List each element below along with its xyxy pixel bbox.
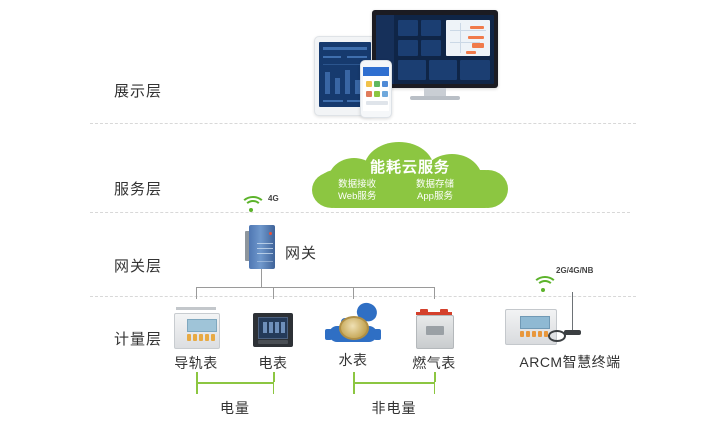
- bracket-stub-gas: [434, 372, 436, 382]
- layer-label-gateway: 网关层: [114, 255, 162, 276]
- cloud-feature-web-service: Web服务: [338, 191, 376, 203]
- cloud-title: 能耗云服务: [312, 156, 508, 177]
- cloud-service-shape: 能耗云服务 数据接收 Web服务 数据存储 App服务: [312, 142, 508, 210]
- cloud-feature-app-service: App服务: [416, 191, 454, 203]
- divider-display-service: [90, 123, 636, 124]
- bracket-label-non-electricity: 非电量: [353, 398, 435, 418]
- connector-bus: [196, 287, 434, 288]
- bracket-stub-din: [196, 372, 198, 382]
- electric-meter-icon: [253, 313, 293, 347]
- meter-label-din-rail: 导轨表: [166, 353, 226, 373]
- connector-gateway-drop: [261, 269, 262, 287]
- din-rail-meter-icon: [174, 313, 220, 349]
- meter-label-electric: 电表: [243, 353, 303, 373]
- meter-din-rail: 导轨表: [166, 305, 226, 355]
- bracket-electricity: [196, 382, 274, 394]
- divider-gateway-metering: [90, 296, 636, 297]
- terminal-network-label: 2G/4G/NB: [556, 266, 593, 275]
- meter-label-water: 水表: [323, 350, 383, 370]
- cloud-text-group: 能耗云服务 数据接收 Web服务 数据存储 App服务: [312, 142, 508, 210]
- gateway-network-label: 4G: [268, 194, 279, 203]
- gateway-device-icon: [245, 225, 277, 269]
- dashboard-map: [446, 20, 490, 56]
- meter-water: 水表: [323, 302, 383, 352]
- monitor-base: [410, 96, 460, 100]
- connector-drop-din: [196, 287, 197, 299]
- terminal-label: ARCM智慧终端: [500, 352, 640, 372]
- antenna-base: [564, 330, 581, 335]
- meter-label-gas: 燃气表: [404, 353, 464, 373]
- bracket-non-electricity: [353, 382, 435, 394]
- layer-label-display: 展示层: [114, 80, 162, 101]
- cloud-feature-data-receive: 数据接收: [338, 179, 376, 191]
- meter-electric: 电表: [243, 305, 303, 355]
- antenna-icon: [572, 292, 573, 332]
- connector-drop-water: [353, 287, 354, 299]
- smartphone-device: [360, 60, 392, 118]
- cloud-feature-data-storage: 数据存储: [416, 179, 454, 191]
- bracket-label-electricity: 电量: [196, 398, 274, 418]
- monitor-screen: [376, 15, 494, 84]
- bracket-stub-water: [353, 372, 355, 382]
- meter-gas: 燃气表: [404, 305, 464, 355]
- layer-label-metering: 计量层: [114, 328, 162, 349]
- layer-label-service: 服务层: [114, 178, 162, 199]
- antenna-cable: [548, 330, 566, 342]
- connector-drop-electric: [273, 287, 274, 299]
- gas-meter-icon: [416, 315, 454, 349]
- bracket-stub-electric: [273, 372, 275, 382]
- phone-screen: [363, 67, 389, 111]
- gateway-wifi-icon: [240, 196, 262, 212]
- terminal-wifi-icon: [532, 276, 554, 292]
- connector-drop-gas: [434, 287, 435, 299]
- display-layer-devices: [300, 8, 540, 116]
- gateway-device-label: 网关: [285, 242, 317, 263]
- divider-service-gateway: [90, 212, 630, 213]
